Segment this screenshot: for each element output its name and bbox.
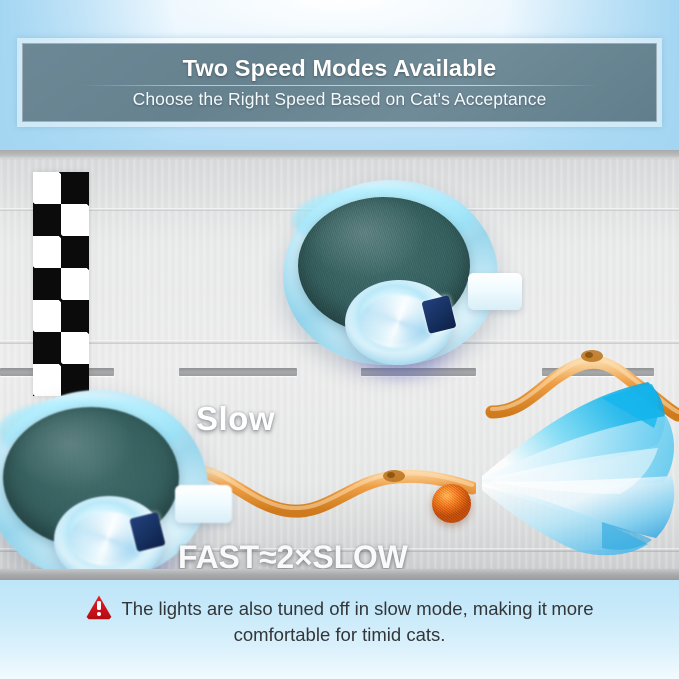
cat-toy-ball-fast bbox=[0, 390, 208, 580]
lane-dash bbox=[179, 368, 297, 376]
stage-bottom-edge bbox=[0, 569, 679, 580]
cat-toy-ball-slow bbox=[283, 180, 498, 365]
pompom-ball bbox=[432, 484, 471, 523]
warning-exclamation-bar bbox=[97, 601, 101, 610]
feather-teaser bbox=[452, 372, 679, 562]
header-banner: Two Speed Modes Available Choose the Rig… bbox=[22, 43, 657, 122]
lane-dash bbox=[542, 368, 654, 376]
footer-note: The lights are also tuned off in slow mo… bbox=[0, 580, 679, 679]
ball-wand-socket bbox=[175, 485, 232, 523]
lane-divider-dashes bbox=[0, 367, 679, 376]
product-feature-image: Two Speed Modes Available Choose the Rig… bbox=[0, 0, 679, 679]
warning-exclamation-dot bbox=[97, 612, 101, 616]
checkered-flag-icon bbox=[33, 172, 89, 396]
warning-triangle-icon bbox=[86, 595, 113, 620]
banner-title: Two Speed Modes Available bbox=[183, 56, 497, 81]
ball-wand-socket bbox=[468, 273, 522, 310]
banner-subtitle: Choose the Right Speed Based on Cat's Ac… bbox=[133, 90, 547, 109]
product-photo-stage: Slow bbox=[0, 150, 679, 580]
banner-divider bbox=[80, 85, 599, 86]
wand-upper bbox=[468, 332, 679, 442]
header-banner-frame: Two Speed Modes Available Choose the Rig… bbox=[17, 38, 662, 127]
stage-top-edge bbox=[0, 150, 679, 159]
footer-text-line1: The lights are also tuned off in slow mo… bbox=[122, 598, 547, 619]
